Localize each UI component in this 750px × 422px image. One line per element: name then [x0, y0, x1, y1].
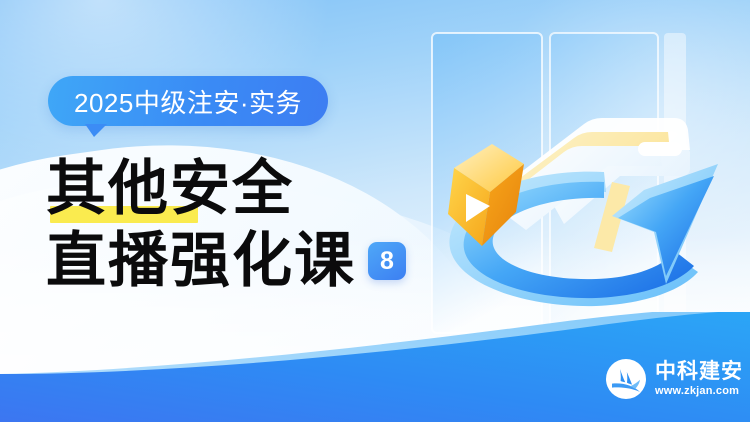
brand-logo-text: 中科建安 www.zkjan.com — [655, 361, 743, 397]
course-banner: 2025中级注安·实务 其他安全 直播强化课 8 中科建安 — [0, 0, 750, 422]
course-badge: 2025中级注安·实务 — [48, 76, 328, 126]
title-line-1-row: 其他安全 — [46, 148, 406, 222]
title-line-2-row: 直播强化课 8 — [46, 228, 406, 294]
brand-logo[interactable]: 中科建安 www.zkjan.com — [606, 359, 743, 399]
episode-badge: 8 — [368, 242, 406, 280]
course-badge-tail — [85, 124, 107, 137]
title-block: 其他安全 直播强化课 8 — [46, 148, 406, 294]
episode-number: 8 — [380, 249, 394, 274]
page-subtitle: 直播强化课 — [46, 228, 356, 294]
illustration — [398, 0, 750, 352]
page-title: 其他安全 — [46, 156, 294, 222]
brand-name: 中科建安 — [655, 361, 743, 382]
course-badge-label: 2025中级注安·实务 — [74, 83, 302, 120]
brand-url: www.zkjan.com — [655, 386, 743, 397]
zkjan-bird-circle-icon — [606, 359, 646, 399]
